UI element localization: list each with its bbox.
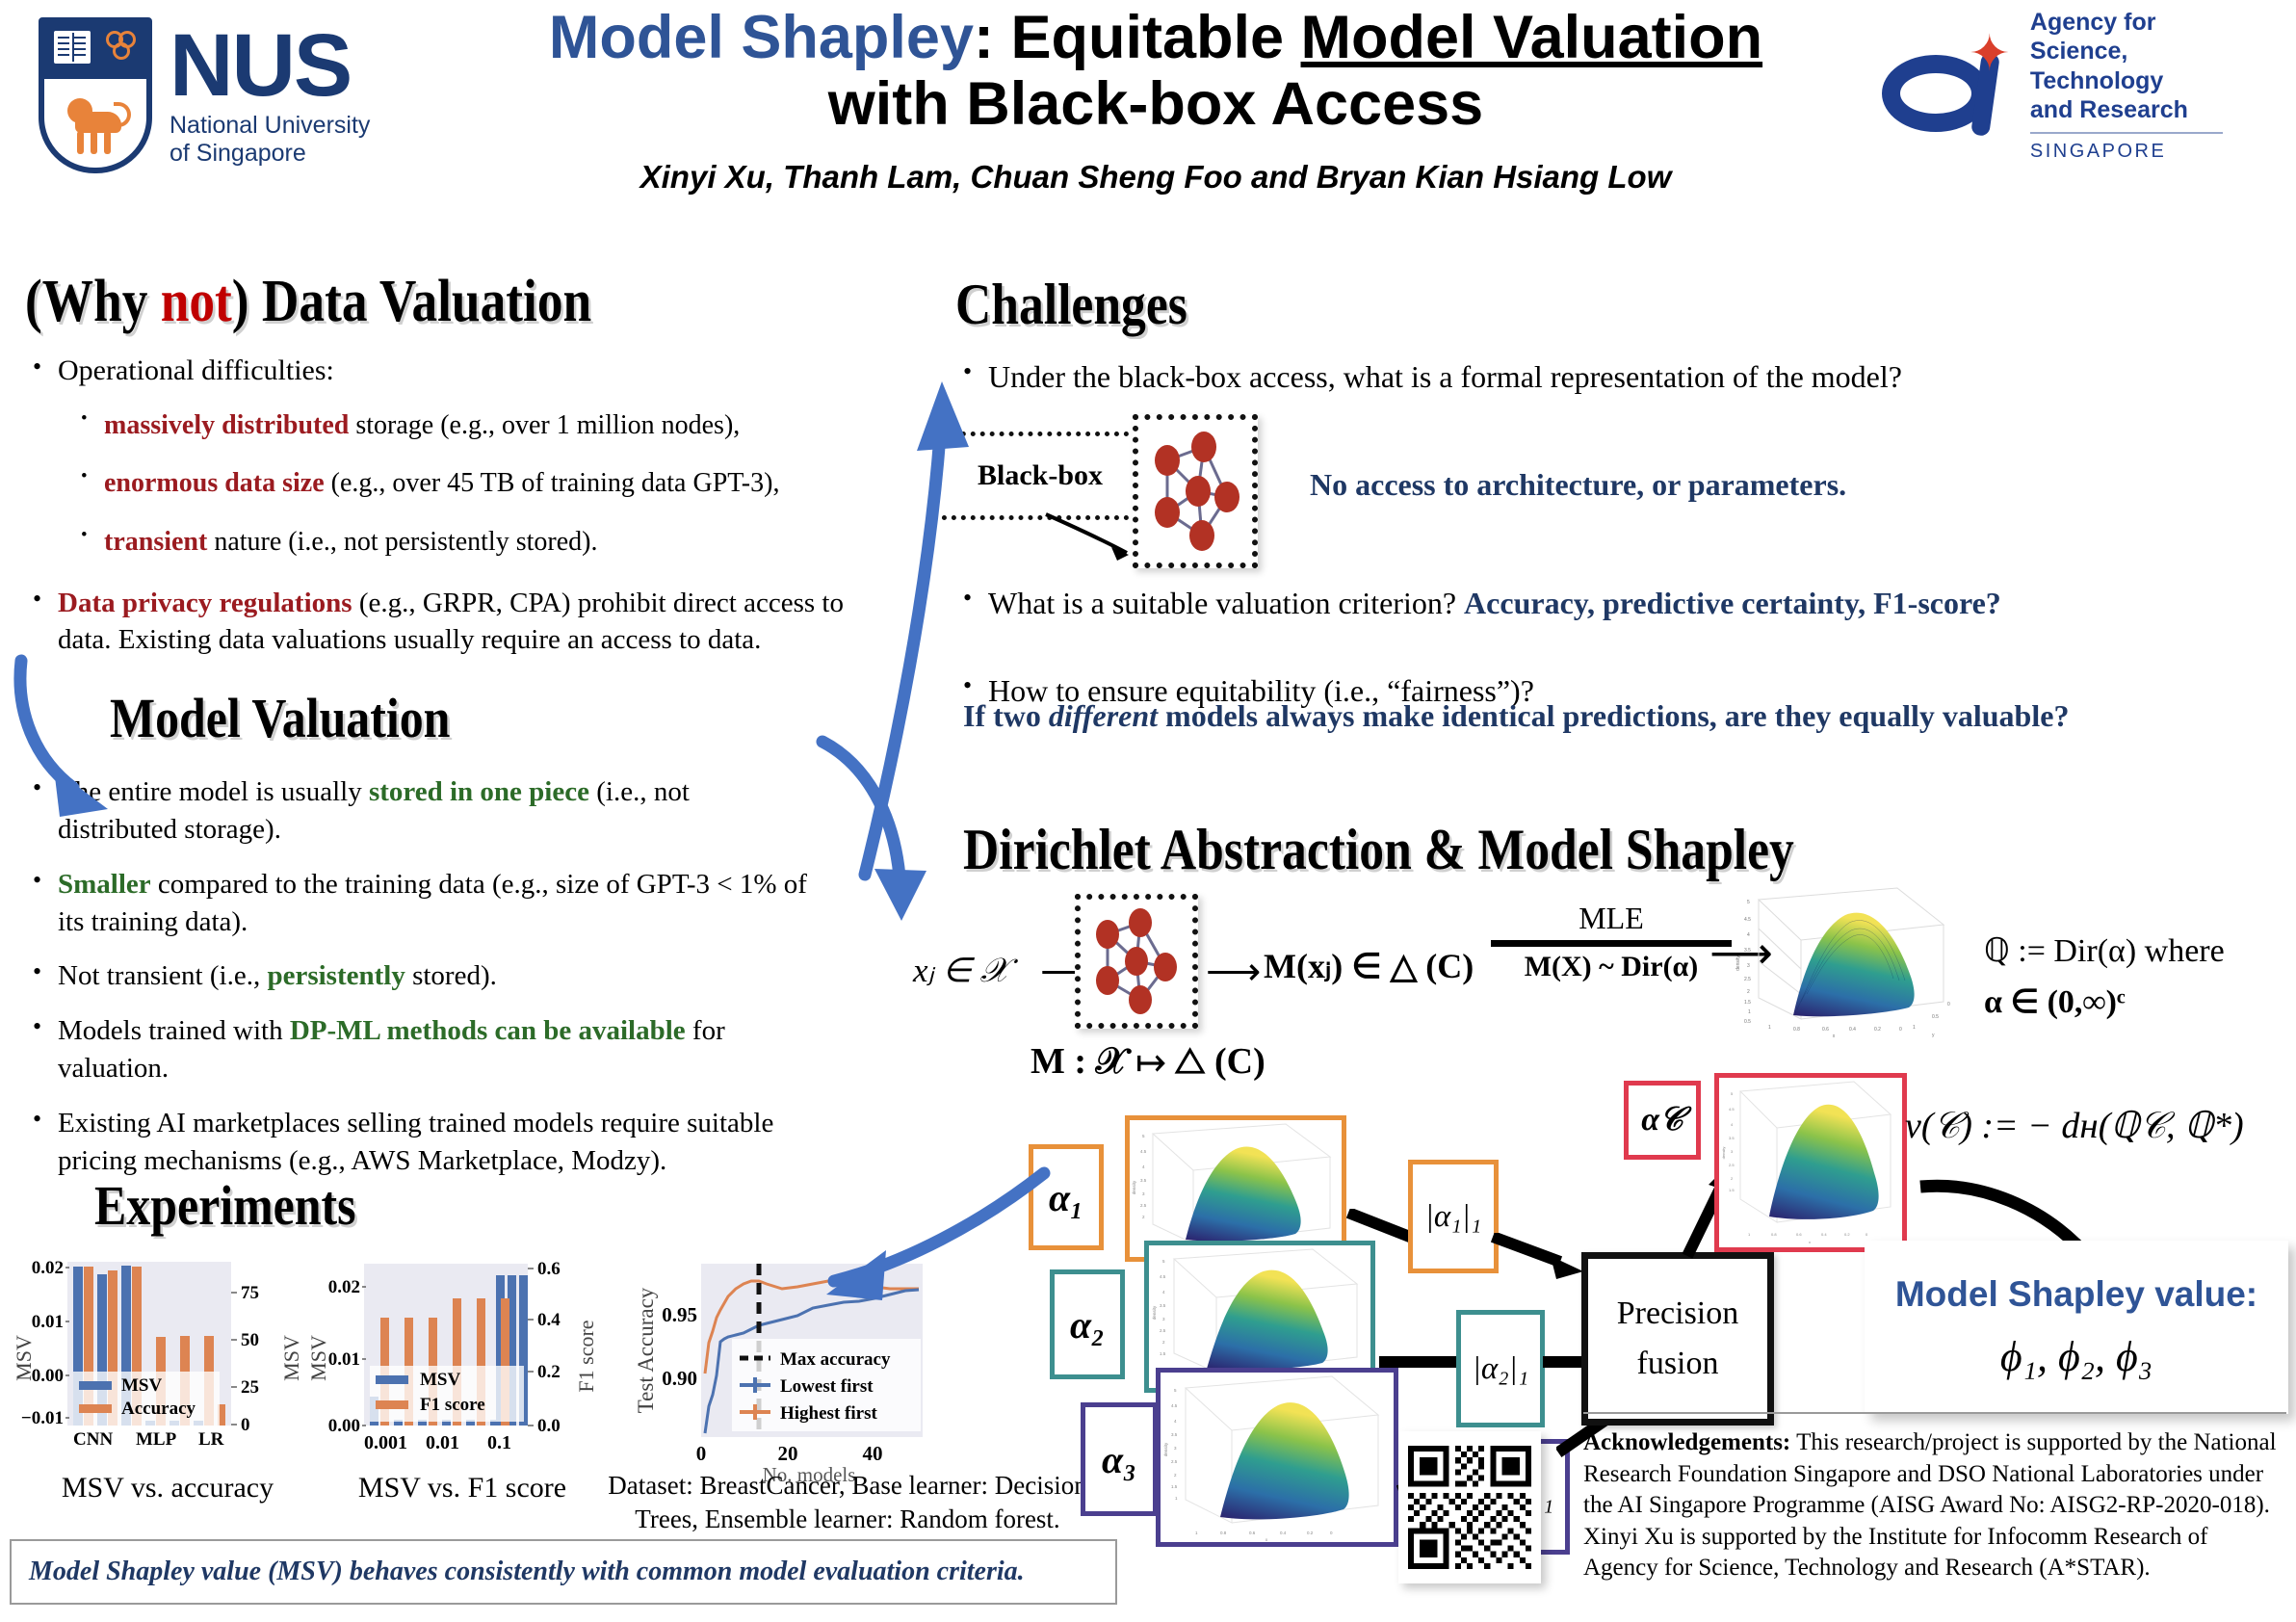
svg-text:1.5: 1.5 — [1160, 1351, 1166, 1356]
highlight-a: If two — [963, 698, 1049, 733]
chart1-caption: MSV vs. accuracy — [23, 1472, 312, 1504]
pipeline-output-label: M(xⱼ) ∈ △ (C) — [1264, 946, 1474, 986]
svg-text:0.8: 0.8 — [1220, 1530, 1227, 1535]
svg-text:5: 5 — [1747, 900, 1750, 905]
nus-line1: National University — [170, 112, 370, 139]
svg-text:0.1: 0.1 — [487, 1432, 511, 1453]
astar-line1: Agency for — [2030, 8, 2261, 38]
q-definition-line2: α ∈ (0,∞)ᶜ — [1984, 978, 2225, 1029]
bullet-bold: DP-ML methods can be available — [290, 1015, 686, 1046]
svg-text:Highest first: Highest first — [780, 1403, 877, 1424]
svg-text:MLP: MLP — [136, 1429, 177, 1450]
svg-text:Lowest first: Lowest first — [780, 1376, 874, 1397]
astar-logo: ✦ Agency for Science, Technology and Res… — [1876, 17, 2261, 152]
svg-text:x: x — [1833, 1033, 1836, 1038]
nn-graph-svg-2 — [1081, 900, 1192, 1023]
bullet-bold: stored in one piece — [369, 776, 589, 807]
why-not-heading: (Why not) Data Valuation — [25, 272, 754, 331]
bullet-operational-difficulties: Operational difficulties: — [25, 354, 873, 387]
svg-text:0.2: 0.2 — [1874, 1027, 1881, 1033]
chart2-svg: 0.02 0.01 0.00 0.6 0.4 0.2 0.0 MSV — [304, 1252, 613, 1474]
svg-text:MSV: MSV — [121, 1375, 163, 1396]
mle-rule — [1491, 940, 1732, 947]
qr-code[interactable] — [1398, 1431, 1541, 1583]
svg-text:MSV: MSV — [13, 1335, 36, 1381]
svg-text:0.2: 0.2 — [1307, 1530, 1314, 1535]
svg-text:2: 2 — [1731, 1176, 1734, 1181]
bullet-text: Operational difficulties: — [58, 354, 334, 386]
model-valuation-heading: Model Valuation — [110, 686, 766, 750]
svg-text:1: 1 — [1175, 1496, 1178, 1501]
mle-distribution: M(X) ~ Dir(α) — [1491, 951, 1732, 983]
dirichlet-surface-plot-1: 54.54 3.532.5 21.51 0.5 density 10.80.6 … — [1734, 884, 1955, 1038]
section-why-not-data-valuation: (Why not) Data Valuation Operational dif… — [25, 272, 873, 659]
chart1-svg: 0.02 0.01 0.00 −0.01 75 50 25 0 — [13, 1252, 312, 1474]
experiments-heading: Experiments — [94, 1173, 399, 1238]
svg-text:0.4: 0.4 — [1280, 1530, 1287, 1535]
svg-text:2.5: 2.5 — [1160, 1328, 1166, 1333]
svg-text:0: 0 — [1947, 1002, 1950, 1007]
svg-text:1: 1 — [1748, 1009, 1751, 1015]
bullet-bold: Smaller — [58, 869, 151, 900]
svg-text:0: 0 — [696, 1442, 707, 1465]
svg-text:F1 score: F1 score — [420, 1395, 485, 1415]
astar-line3: and Research — [2030, 95, 2261, 125]
svg-text:0.95: 0.95 — [662, 1303, 697, 1326]
svg-text:0.02: 0.02 — [328, 1277, 360, 1297]
svg-text:0: 0 — [241, 1415, 250, 1435]
title-line1-mid: : Equitable — [974, 4, 1301, 71]
svg-text:3: 3 — [1731, 1149, 1734, 1154]
model-shapley-value-box: Model Shapley value: ϕ₁, ϕ₂, ϕ₃ — [1865, 1241, 2288, 1414]
svg-text:3: 3 — [1142, 1191, 1145, 1196]
svg-text:4.5: 4.5 — [1140, 1149, 1147, 1154]
svg-text:4: 4 — [1174, 1419, 1177, 1424]
svg-text:2: 2 — [1747, 989, 1750, 995]
svg-text:25: 25 — [241, 1377, 259, 1398]
svg-text:−0.01: −0.01 — [21, 1408, 64, 1428]
svg-text:MSV: MSV — [279, 1335, 303, 1381]
svg-text:40: 40 — [863, 1442, 883, 1465]
svg-text:0.4: 0.4 — [1849, 1027, 1856, 1033]
svg-text:3: 3 — [1747, 963, 1750, 969]
bullet-valuation-criterion: What is a suitable valuation criterion? … — [955, 586, 2296, 621]
svg-text:2.5: 2.5 — [1140, 1203, 1147, 1208]
svg-text:5: 5 — [1142, 1134, 1145, 1138]
svg-text:density: density — [1152, 1305, 1157, 1320]
svg-text:3.5: 3.5 — [1744, 948, 1751, 954]
bullet-a: The entire model is usually — [58, 776, 369, 807]
bullet-rest: compared to the training data (e.g., siz… — [58, 869, 807, 937]
svg-text:2.5: 2.5 — [1744, 977, 1751, 982]
svg-text:20: 20 — [778, 1442, 798, 1465]
astar-line2: Science, Technology — [2030, 37, 2261, 95]
highlight-italic: different — [1049, 698, 1158, 733]
qr-code-svg[interactable] — [1408, 1441, 1531, 1574]
bullet-not-transient: Not transient (i.e., persistently stored… — [25, 957, 873, 995]
astar-divider — [2030, 132, 2223, 134]
svg-text:4.5: 4.5 — [1744, 917, 1751, 923]
svg-text:0.01: 0.01 — [328, 1349, 360, 1370]
svg-text:MSV: MSV — [306, 1335, 330, 1381]
equitability-highlight: If two different models always make iden… — [963, 695, 2254, 737]
bullet-marketplaces: Existing AI marketplaces selling trained… — [25, 1105, 786, 1180]
svg-text:5: 5 — [1162, 1259, 1165, 1264]
challenges-heading: Challenges — [955, 272, 2099, 338]
svg-text:MSV: MSV — [420, 1370, 461, 1390]
svg-text:0.6: 0.6 — [537, 1259, 561, 1279]
chart2-caption: MSV vs. F1 score — [318, 1472, 607, 1504]
surface-svg-1: 54.54 3.532.5 21.51 0.5 density 10.80.6 … — [1734, 884, 1955, 1038]
bullet-bold: Data privacy regulations — [58, 588, 352, 618]
subbullet-bold: transient — [104, 527, 207, 557]
chart3-svg: 0.95 0.90 Max accuracy Lowest first High… — [616, 1250, 992, 1491]
nus-logo: NUS National Universityof Singapore — [39, 13, 424, 177]
subbullet-bold: massively distributed — [104, 410, 349, 440]
subbullet-enormous-data-size: enormous data size (e.g., over 45 TB of … — [71, 466, 873, 501]
bullet-rest: Existing AI marketplaces selling trained… — [58, 1108, 773, 1176]
svg-text:1: 1 — [1748, 1232, 1751, 1237]
subbullet-rest: nature (i.e., not persistently stored). — [207, 527, 597, 557]
svg-text:4: 4 — [1162, 1290, 1165, 1295]
nus-acronym: NUS — [170, 24, 370, 108]
svg-text:y: y — [1932, 1033, 1935, 1038]
svg-text:1: 1 — [1913, 1025, 1916, 1031]
nus-shield-icon — [39, 17, 152, 173]
svg-text:0.90: 0.90 — [662, 1367, 697, 1390]
svg-text:F1 score: F1 score — [574, 1320, 598, 1392]
svg-text:0.00: 0.00 — [328, 1416, 360, 1436]
poster-header: NUS National Universityof Singapore Mode… — [0, 0, 2296, 178]
value-function-definition: ν(𝒞) := − dʜ(ℚ𝒞, ℚ*) — [1905, 1104, 2244, 1147]
pipeline-input-label: xⱼ ∈ 𝒳 — [913, 952, 1009, 990]
acknowledgements-label: Acknowledgements: — [1583, 1429, 1790, 1455]
title-line2: with Black-box Access — [453, 70, 1859, 139]
svg-text:1: 1 — [1768, 1025, 1771, 1031]
arrow-to-output-icon: ⟶ — [1206, 949, 1261, 994]
alpha3-surface-card: 54.54 3.532.5 21.51 density 10.80.6 0.40… — [1156, 1368, 1398, 1547]
norm-alpha2-box: |α₂|₁ — [1456, 1310, 1545, 1427]
svg-text:0.8: 0.8 — [1793, 1027, 1800, 1033]
alpha2-box: α₂ — [1050, 1269, 1125, 1379]
svg-text:0.001: 0.001 — [364, 1432, 407, 1453]
svg-text:0.01: 0.01 — [32, 1312, 64, 1332]
precision-fusion-box: Precision fusion — [1581, 1252, 1774, 1426]
norm-alpha1-box: |α₁|₁ — [1408, 1160, 1499, 1273]
astar-country: SINGAPORE — [2030, 141, 2261, 163]
svg-text:3.5: 3.5 — [1171, 1432, 1178, 1437]
svg-text:density: density — [1132, 1180, 1136, 1194]
bullet-data-privacy-regulations: Data privacy regulations (e.g., GRPR, CP… — [25, 585, 844, 659]
svg-text:Test Accuracy: Test Accuracy — [634, 1287, 658, 1413]
svg-text:Accuracy: Accuracy — [121, 1399, 196, 1419]
bullet-dp-ml: Models trained with DP-ML methods can be… — [25, 1012, 805, 1087]
conclusion-text: Model Shapley value (MSV) behaves consis… — [29, 1557, 1025, 1587]
svg-text:4: 4 — [1747, 932, 1750, 938]
title-emphasis: Model Shapley — [549, 4, 974, 71]
q-definition: ℚ := Dir(α) where α ∈ (0,∞)ᶜ — [1984, 927, 2225, 1028]
model-mapping-formula: M : 𝒳 ↦ △ (C) — [1031, 1040, 1265, 1083]
bullet-bold: persistently — [267, 960, 404, 991]
svg-text:4: 4 — [1142, 1164, 1145, 1169]
svg-text:1.5: 1.5 — [1729, 1188, 1735, 1192]
svg-text:0.2: 0.2 — [537, 1362, 561, 1382]
author-list: Xinyi Xu, Thanh Lam, Chuan Sheng Foo and… — [453, 159, 1859, 196]
svg-text:75: 75 — [241, 1283, 259, 1303]
svg-text:0.4: 0.4 — [537, 1310, 561, 1330]
svg-text:3.5: 3.5 — [1729, 1136, 1735, 1140]
svg-text:4.5: 4.5 — [1160, 1274, 1166, 1279]
svg-text:0.4: 0.4 — [1821, 1232, 1827, 1237]
blackbox-label: Black-box — [978, 459, 1103, 492]
svg-text:0.00: 0.00 — [32, 1366, 64, 1386]
section-challenges: Challenges Under the black-box access, w… — [955, 272, 2284, 395]
msv-box-phis: ϕ₁, ϕ₂, ϕ₃ — [2000, 1332, 2152, 1381]
svg-text:3: 3 — [1162, 1317, 1165, 1321]
title-line1-underlined: Model Valuation — [1301, 4, 1763, 71]
svg-text:density: density — [1721, 1147, 1726, 1160]
bullet-b: stored). — [405, 960, 497, 991]
surface-svg-a2: 54.54 3.532.5 21.5 density — [1149, 1245, 1370, 1388]
alpha3-box: α₃ — [1081, 1402, 1158, 1516]
bullet-text: Under the black-box access, what is a fo… — [988, 359, 1902, 394]
heading-part-not: not — [161, 269, 232, 334]
svg-text:0.8: 0.8 — [1771, 1232, 1777, 1237]
neural-network-icon-pipeline — [1075, 894, 1198, 1029]
svg-text:2: 2 — [1142, 1215, 1145, 1219]
fused-surface-card: 54.54 3.532.5 21.5 density 10.80.6 0.40.… — [1714, 1073, 1907, 1252]
svg-text:0.01: 0.01 — [426, 1432, 459, 1453]
svg-text:LR: LR — [198, 1429, 224, 1450]
poster-title-block: Model Shapley: Equitable Model Valuation… — [453, 6, 1859, 196]
subbullet-massively-distributed: massively distributed storage (e.g., ove… — [71, 408, 873, 443]
bullet-a: Not transient (i.e., — [58, 960, 267, 991]
astar-a-icon: ✦ — [1876, 32, 2017, 138]
svg-text:Max accuracy: Max accuracy — [780, 1349, 891, 1370]
chart-msv-vs-f1: 0.02 0.01 0.00 0.6 0.4 0.2 0.0 MSV — [304, 1252, 613, 1474]
svg-text:1.5: 1.5 — [1171, 1484, 1178, 1489]
dataset-note: Dataset: BreastCancer, Base learner: Dec… — [587, 1469, 1108, 1535]
bullet-a: What is a suitable valuation criterion? — [988, 586, 1464, 620]
conclusion-box: Model Shapley value (MSV) behaves consis… — [10, 1539, 1117, 1605]
svg-text:0.6: 0.6 — [1249, 1530, 1256, 1535]
nn-graph-svg — [1138, 420, 1252, 562]
svg-text:1: 1 — [1195, 1530, 1198, 1535]
heading-part-c: ) Data Valuation — [232, 269, 591, 334]
nus-line2: of Singapore — [170, 140, 306, 167]
svg-text:0.6: 0.6 — [1822, 1027, 1829, 1033]
alpha-C-box: α𝒞 — [1624, 1081, 1701, 1160]
subbullet-transient: transient nature (i.e., not persistently… — [71, 525, 873, 560]
svg-text:0: 0 — [1899, 1027, 1902, 1033]
svg-text:density: density — [1735, 955, 1741, 971]
arrow-alpha2-to-norm-icon — [1377, 1348, 1464, 1377]
svg-text:4.5: 4.5 — [1729, 1107, 1735, 1112]
acknowledgements-block: Acknowledgements: This research/project … — [1583, 1412, 2286, 1584]
dirichlet-heading: Dirichlet Abstraction & Model Shapley — [963, 817, 1929, 883]
bullet-stored-one-piece: The entire model is usually stored in on… — [25, 773, 796, 849]
highlight-b: models always make identical predictions… — [1158, 698, 2069, 733]
svg-text:4: 4 — [1731, 1122, 1734, 1127]
msv-box-title: Model Shapley value: — [1895, 1274, 2257, 1315]
section-model-valuation: Model Valuation The entire model is usua… — [25, 686, 873, 1180]
svg-text:0.2: 0.2 — [1844, 1232, 1850, 1237]
svg-text:0: 0 — [1330, 1530, 1333, 1535]
chart-test-accuracy-vs-models: 0.95 0.90 Max accuracy Lowest first High… — [616, 1250, 992, 1491]
surface-svg-fused: 54.54 3.532.5 21.5 density 10.80.6 0.40.… — [1719, 1078, 1902, 1247]
neural-network-icon — [1133, 414, 1258, 568]
svg-text:5: 5 — [1174, 1388, 1177, 1393]
fusion-label-line1: Precision — [1617, 1295, 1739, 1332]
subbullet-rest: (e.g., over 45 TB of training data GPT-3… — [325, 468, 780, 498]
svg-text:3.5: 3.5 — [1140, 1178, 1147, 1183]
svg-text:2: 2 — [1162, 1340, 1165, 1345]
chart-msv-vs-accuracy: 0.02 0.01 0.00 −0.01 75 50 25 0 — [13, 1252, 312, 1474]
svg-text:2: 2 — [1174, 1473, 1177, 1478]
no-access-statement: No access to architecture, or parameters… — [1310, 467, 1846, 503]
mle-label: MLE — [1491, 901, 1732, 936]
svg-text:2.5: 2.5 — [1729, 1163, 1735, 1167]
surface-svg-a3: 54.54 3.532.5 21.51 density 10.80.6 0.40… — [1161, 1373, 1394, 1542]
svg-text:0.5: 0.5 — [1932, 1014, 1939, 1020]
svg-text:50: 50 — [241, 1330, 259, 1350]
subbullet-rest: storage (e.g., over 1 million nodes), — [349, 410, 740, 440]
svg-text:0: 0 — [1865, 1232, 1868, 1237]
blackbox-label-box: Black-box — [932, 432, 1148, 520]
alpha1-box: α₁ — [1029, 1144, 1104, 1250]
fusion-label-line2: fusion — [1637, 1346, 1719, 1382]
bullet-a: Models trained with — [58, 1015, 290, 1046]
svg-text:density: density — [1163, 1442, 1168, 1456]
surface-svg-a1: 54.54 3.532.5 2 density — [1130, 1120, 1342, 1257]
mle-annotation: MLE M(X) ~ Dir(α) — [1491, 901, 1732, 983]
bullet-blue: Accuracy, predictive certainty, F1-score… — [1464, 586, 2001, 620]
svg-text:5: 5 — [1731, 1091, 1734, 1096]
heading-part-a: (Why — [25, 269, 161, 334]
svg-text:x: x — [1809, 1240, 1811, 1244]
svg-text:0.6: 0.6 — [1796, 1232, 1802, 1237]
bullet-smaller: Smaller compared to the training data (e… — [25, 866, 834, 941]
svg-text:0.5: 0.5 — [1744, 1019, 1751, 1025]
blackbox-pointer-arrow-icon — [1042, 509, 1148, 566]
svg-text:1.5: 1.5 — [1744, 1000, 1751, 1006]
svg-text:3.5: 3.5 — [1160, 1303, 1166, 1308]
astar-star-icon: ✦ — [1969, 32, 2015, 78]
svg-text:3: 3 — [1174, 1446, 1177, 1451]
svg-text:4.5: 4.5 — [1171, 1403, 1178, 1408]
svg-text:2.5: 2.5 — [1171, 1459, 1178, 1464]
svg-text:0.0: 0.0 — [537, 1416, 561, 1436]
bullet-blackbox-representation: Under the black-box access, what is a fo… — [955, 359, 2284, 395]
svg-text:x: x — [1265, 1537, 1268, 1542]
svg-text:0.02: 0.02 — [32, 1258, 64, 1278]
q-definition-line1: ℚ := Dir(α) where — [1984, 927, 2225, 978]
svg-text:CNN: CNN — [73, 1429, 113, 1450]
subbullet-bold: enormous data size — [104, 468, 325, 498]
